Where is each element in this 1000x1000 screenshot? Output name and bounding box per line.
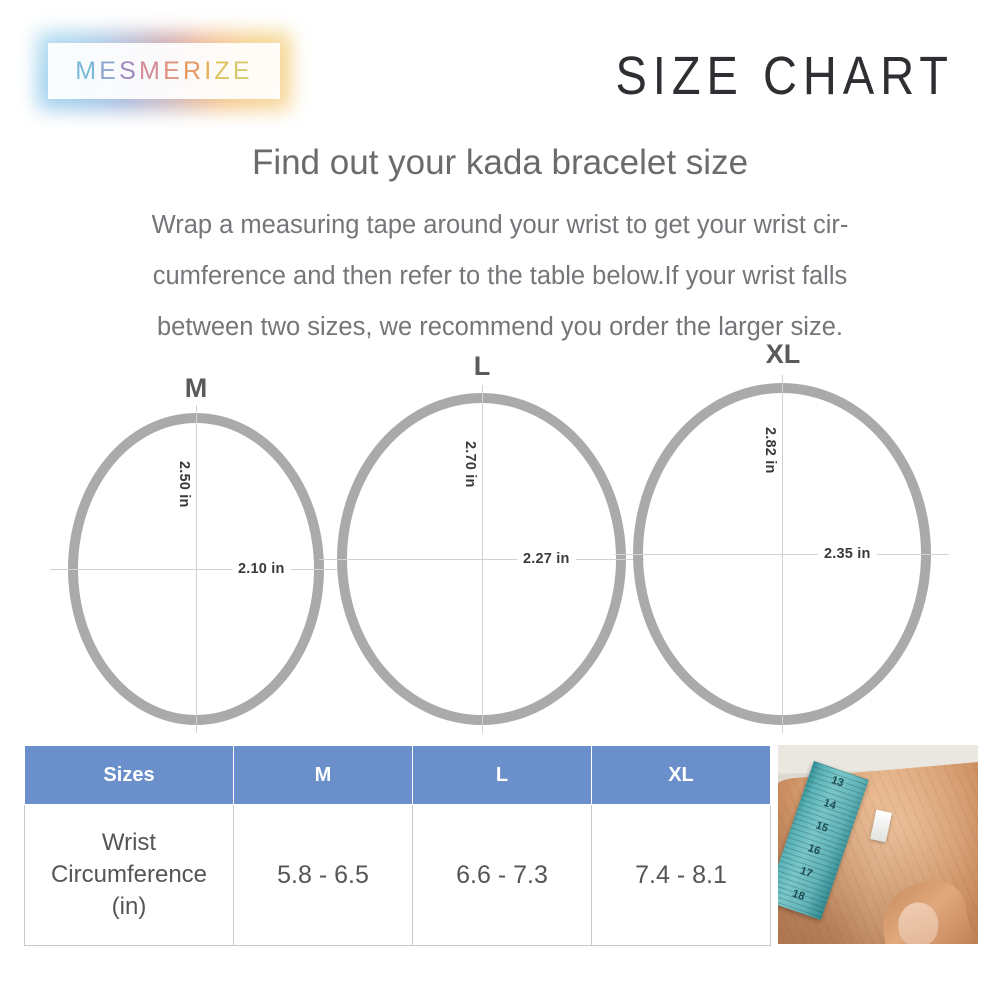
oval-width-label-xl: 2.35 in: [818, 546, 877, 562]
size-table: Sizes M L XL Wrist Circumference (in) 5.…: [24, 745, 771, 946]
table-header-m: M: [234, 746, 413, 805]
row-label-line-3: (in): [26, 891, 232, 923]
oval-height-label-xl: 2.82 in: [762, 427, 778, 474]
logo-letter: S: [119, 57, 139, 86]
logo-letter: E: [163, 57, 183, 86]
oval-vertical-guide-l: [482, 385, 483, 733]
oval-diagram-xl: XL 2.82 in 2.35 in: [633, 383, 931, 725]
table-row: Wrist Circumference (in) 5.8 - 6.5 6.6 -…: [25, 805, 771, 946]
photo-thumbnail-nail: [898, 902, 940, 944]
size-chart-page: MESMERIZE SIZE CHART Find out your kada …: [0, 0, 1000, 1000]
oval-diagram-m: M 2.50 in 2.10 in: [68, 413, 324, 725]
intro-line-2: cumference and then refer to the table b…: [50, 251, 950, 302]
table-header-row: Sizes M L XL: [25, 746, 771, 805]
oval-outline-l: [337, 393, 626, 725]
oval-horizontal-guide-m: [50, 569, 342, 570]
oval-vertical-guide-m: [196, 405, 197, 733]
table-cell-row-label: Wrist Circumference (in): [25, 805, 234, 946]
logo-letter: E: [99, 57, 119, 86]
oval-horizontal-guide-xl: [615, 554, 949, 555]
brand-logo: MESMERIZE: [48, 43, 280, 99]
logo-card: MESMERIZE: [48, 43, 280, 99]
logo-letter: I: [204, 57, 214, 86]
table-cell-value-m: 5.8 - 6.5: [234, 805, 413, 946]
wrist-measuring-photo: 13 14 15 16 17 18: [778, 745, 978, 944]
table-cell-value-l: 6.6 - 7.3: [413, 805, 592, 946]
table-cell-value-xl: 7.4 - 8.1: [592, 805, 771, 946]
oval-horizontal-guide-l: [319, 559, 644, 560]
oval-size-label-m: M: [166, 373, 226, 404]
oval-diagram-l: L 2.70 in 2.27 in: [337, 393, 626, 725]
oval-width-label-l: 2.27 in: [517, 551, 576, 567]
logo-letter: E: [233, 57, 253, 86]
row-label-line-2: Circumference: [26, 859, 232, 891]
oval-height-label-l: 2.70 in: [462, 441, 478, 488]
oval-vertical-guide-xl: [782, 375, 783, 733]
page-title: SIZE CHART: [615, 44, 954, 107]
oval-height-label-m: 2.50 in: [176, 461, 192, 508]
logo-letter: R: [183, 57, 204, 86]
oval-outline-m: [68, 413, 324, 725]
oval-size-label-l: L: [452, 351, 512, 382]
table-header-sizes: Sizes: [25, 746, 234, 805]
intro-line-3: between two sizes, we recommend you orde…: [50, 302, 950, 353]
logo-text: MESMERIZE: [75, 57, 252, 86]
oval-outline-xl: [633, 383, 931, 725]
table-header-xl: XL: [592, 746, 771, 805]
row-label-line-1: Wrist: [26, 827, 232, 859]
intro-paragraph: Wrap a measuring tape around your wrist …: [50, 200, 950, 353]
headline: Find out your kada bracelet size: [0, 143, 1000, 183]
oval-width-label-m: 2.10 in: [232, 561, 291, 577]
table-header-l: L: [413, 746, 592, 805]
logo-letter: M: [75, 57, 99, 86]
intro-line-1: Wrap a measuring tape around your wrist …: [50, 200, 950, 251]
logo-letter: M: [139, 57, 163, 86]
logo-letter: Z: [214, 57, 232, 86]
